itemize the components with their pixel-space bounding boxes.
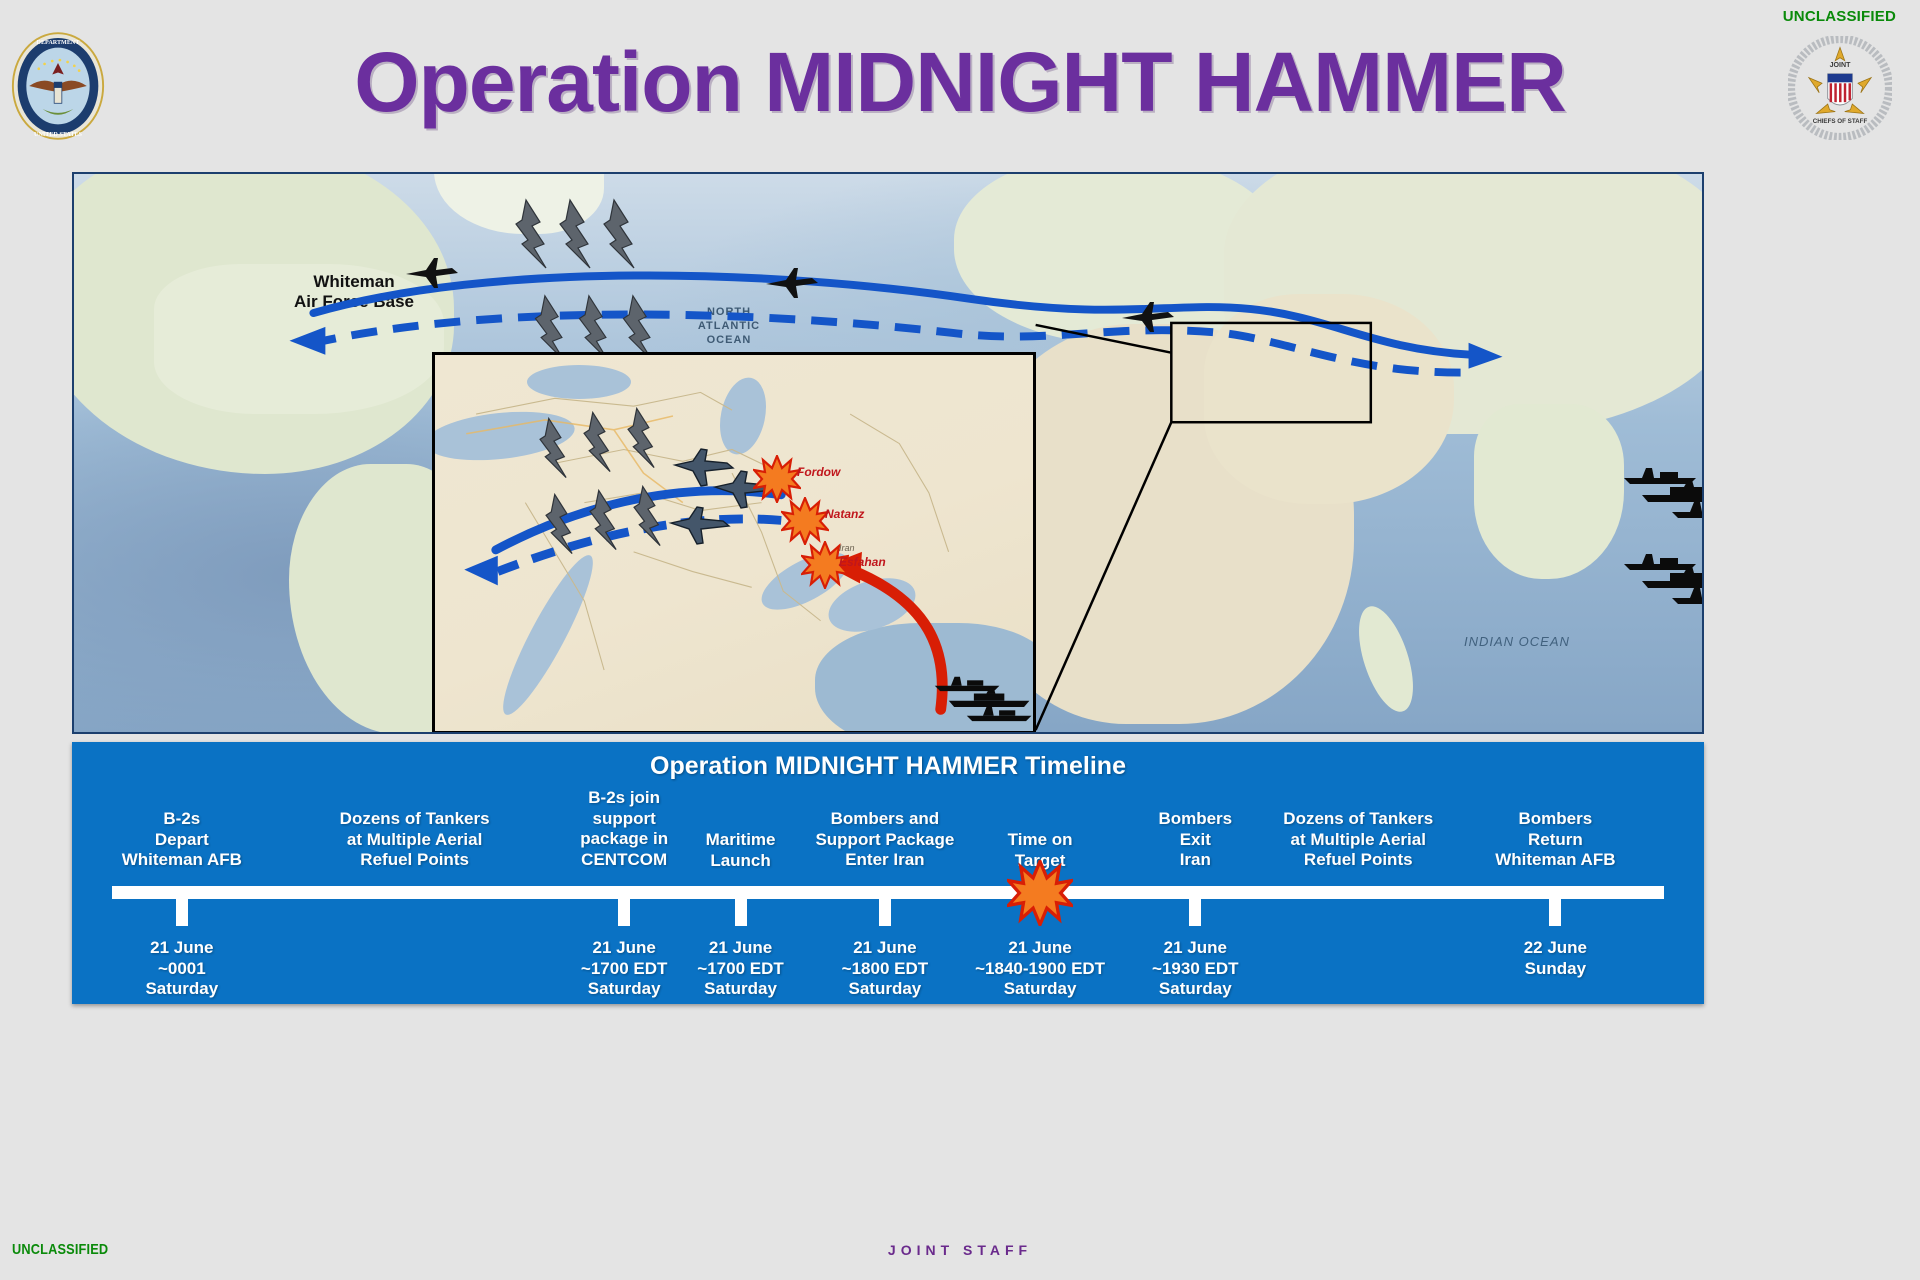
naval-ship-icon xyxy=(1670,498,1704,520)
timeline-event-time: ~1800 EDT xyxy=(842,959,928,980)
timeline-tick xyxy=(879,886,891,926)
timeline-event-label-line: Return xyxy=(1495,830,1615,851)
timeline-event-label-line: Refuel Points xyxy=(1283,850,1433,871)
timeline-event-day: Saturday xyxy=(842,979,928,1000)
timeline-event-date: 22 June xyxy=(1524,938,1587,959)
classification-banner-top: UNCLASSIFIED xyxy=(1783,8,1896,25)
timeline-event-time: ~0001 xyxy=(145,959,218,980)
operations-map: NORTHATLANTICOCEAN INDIAN OCEAN Whiteman… xyxy=(72,172,1704,734)
timeline-event-label-line: at Multiple Aerial xyxy=(340,830,490,851)
timeline-event-label-line: Exit xyxy=(1158,830,1232,851)
timeline-event-label: B-2sDepartWhiteman AFB xyxy=(122,809,242,871)
timeline-title: Operation MIDNIGHT HAMMER Timeline xyxy=(72,752,1704,781)
timeline-event-date: 21 June xyxy=(1152,938,1238,959)
timeline-event-label-line: Dozens of Tankers xyxy=(1283,809,1433,830)
operation-timeline: Operation MIDNIGHT HAMMER Timeline B-2sD… xyxy=(72,742,1704,1004)
timeline-event-datetime: 21 June~1700 EDTSaturday xyxy=(581,938,667,1000)
timeline-event-date: 21 June xyxy=(581,938,667,959)
timeline-event-label: BombersReturnWhiteman AFB xyxy=(1495,809,1615,871)
inset-country-label-iran: Iran xyxy=(839,543,855,553)
timeline-event-label: MaritimeLaunch xyxy=(706,830,776,871)
inset-return-arrow xyxy=(464,556,497,586)
timeline-tick xyxy=(735,886,747,926)
timeline-event-datetime: 21 June~0001Saturday xyxy=(145,938,218,1000)
timeline-event-day: Saturday xyxy=(145,979,218,1000)
timeline-event-day: Saturday xyxy=(581,979,667,1000)
timeline-event-datetime: 21 June~1930 EDTSaturday xyxy=(1152,938,1238,1000)
tanker-aircraft-icon xyxy=(404,256,460,290)
naval-ship-icon xyxy=(965,703,1035,723)
timeline-event-day: Saturday xyxy=(1152,979,1238,1000)
b2-bomber-icon xyxy=(613,483,669,549)
timeline-event-time: ~1840-1900 EDT xyxy=(975,959,1105,980)
timeline-event-day: Saturday xyxy=(697,979,783,1000)
timeline-event-label-line: Time on xyxy=(1008,830,1073,851)
timeline-event-label: Dozens of Tankersat Multiple AerialRefue… xyxy=(340,809,490,871)
timeline-event-label-line: Refuel Points xyxy=(340,850,490,871)
timeline-event-label-line: B-2s join xyxy=(580,788,668,809)
timeline-event-label-line: Support Package xyxy=(815,830,954,851)
timeline-tick xyxy=(1549,886,1561,926)
timeline-event-label-line: Iran xyxy=(1158,850,1232,871)
timeline-event-label: Bombers andSupport PackageEnter Iran xyxy=(815,809,954,871)
timeline-event-day: Sunday xyxy=(1524,959,1587,980)
timeline-event-label-line: Launch xyxy=(706,851,776,872)
timeline-event-label-line: B-2s xyxy=(122,809,242,830)
timeline-event-label-line: package in xyxy=(580,829,668,850)
timeline-event-time: ~1700 EDT xyxy=(581,959,667,980)
timeline-event-date: 21 June xyxy=(975,938,1105,959)
page-title: Operation MIDNIGHT HAMMER xyxy=(0,34,1920,131)
b2-bomber-icon xyxy=(607,405,663,471)
fighter-jet-icon xyxy=(667,505,731,547)
theater-inset-map: Fordow Natanz Esfahan Iran xyxy=(432,352,1036,734)
timeline-event-label-line: Whiteman AFB xyxy=(1495,850,1615,871)
timeline-event-label-line: Maritime xyxy=(706,830,776,851)
timeline-event-label: BombersExitIran xyxy=(1158,809,1232,871)
classification-banner-bottom: UNCLASSIFIED xyxy=(12,1241,108,1258)
timeline-event-datetime: 21 June~1800 EDTSaturday xyxy=(842,938,928,1000)
target-burst-natanz xyxy=(781,497,829,545)
timeline-event-time: ~1930 EDT xyxy=(1152,959,1238,980)
target-label-fordow: Fordow xyxy=(797,465,840,479)
target-label-natanz: Natanz xyxy=(825,507,864,521)
time-on-target-burst xyxy=(1007,860,1073,926)
timeline-tick xyxy=(176,886,188,926)
timeline-event-datetime: 22 JuneSunday xyxy=(1524,938,1587,979)
timeline-event-date: 21 June xyxy=(697,938,783,959)
timeline-tick xyxy=(618,886,630,926)
outbound-route xyxy=(313,275,1470,354)
timeline-event-label-line: CENTCOM xyxy=(580,850,668,871)
svg-text:UNITED STATES: UNITED STATES xyxy=(34,132,83,138)
footer-joint-staff: JOINT STAFF xyxy=(888,1242,1032,1258)
timeline-event-day: Saturday xyxy=(975,979,1105,1000)
timeline-tick xyxy=(1189,886,1201,926)
timeline-event-date: 21 June xyxy=(145,938,218,959)
timeline-event-datetime: 21 June~1840-1900 EDTSaturday xyxy=(975,938,1105,1000)
return-route-arrow xyxy=(289,327,325,355)
inset-focus-rect xyxy=(1171,323,1371,422)
target-burst-fordow xyxy=(753,455,801,503)
timeline-event-label-line: Depart xyxy=(122,830,242,851)
b2-bomber-icon xyxy=(580,196,644,272)
timeline-event-label-line: Bombers and xyxy=(815,809,954,830)
tanker-aircraft-icon xyxy=(1120,300,1176,334)
outbound-route-arrow xyxy=(1469,343,1503,369)
timeline-event-time: ~1700 EDT xyxy=(697,959,783,980)
timeline-event-label-line: Bombers xyxy=(1158,809,1232,830)
tanker-aircraft-icon xyxy=(764,266,820,300)
target-label-esfahan: Esfahan xyxy=(839,555,886,569)
timeline-event-label: B-2s joinsupportpackage inCENTCOM xyxy=(580,788,668,871)
inset-callout-line-bottom xyxy=(1036,422,1172,730)
timeline-event-label-line: at Multiple Aerial xyxy=(1283,830,1433,851)
timeline-event-label: Dozens of Tankersat Multiple AerialRefue… xyxy=(1283,809,1433,871)
timeline-event-label-line: Bombers xyxy=(1495,809,1615,830)
timeline-event-datetime: 21 June~1700 EDTSaturday xyxy=(697,938,783,1000)
timeline-event-label-line: Whiteman AFB xyxy=(122,850,242,871)
slide-root: UNCLASSIFIED UNCLASSIFIED JOINT STAFF DE… xyxy=(0,0,1920,1280)
naval-ship-icon xyxy=(1670,584,1704,606)
timeline-event-label-line: Dozens of Tankers xyxy=(340,809,490,830)
maritime-strike-route xyxy=(850,570,942,710)
timeline-event-label-line: Enter Iran xyxy=(815,850,954,871)
timeline-event-label-line: support xyxy=(580,809,668,830)
timeline-event-date: 21 June xyxy=(842,938,928,959)
